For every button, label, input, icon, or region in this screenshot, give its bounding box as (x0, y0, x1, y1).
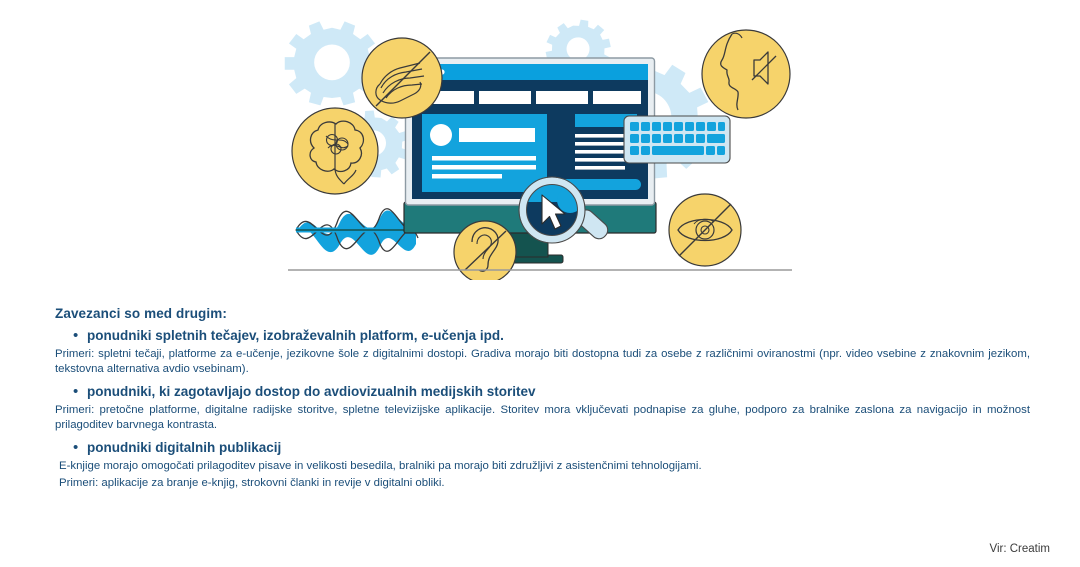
brain-cognitive-icon (292, 108, 378, 194)
list-item-label: ponudniki digitalnih publikacij (87, 439, 281, 457)
list-item-label: ponudniki spletnih tečajev, izobraževaln… (87, 327, 504, 345)
eye-visual-impairment-icon (669, 194, 741, 266)
sound-wave-graphic (296, 209, 420, 255)
bullet-row: • ponudniki, ki zagotavljajo dostop do a… (55, 383, 1030, 401)
bullet-row: • ponudniki digitalnih publikacij (55, 439, 1030, 457)
list-item-paragraph: Primeri: aplikacije za branje e-knjig, s… (55, 476, 1030, 491)
list-item-paragraph: E-knjige morajo omogočati prilagoditev p… (55, 459, 1030, 474)
list-item: • ponudniki spletnih tečajev, izobraževa… (55, 327, 1030, 376)
bullet-dot-icon: • (73, 383, 87, 401)
bullet-dot-icon: • (73, 327, 87, 345)
ear-hearing-impairment-icon (454, 221, 516, 280)
source-credit: Vir: Creatim (990, 543, 1051, 555)
slide-page: Zavezanci so med drugim: • ponudniki spl… (0, 0, 1080, 567)
page-title: Zavezanci so med drugim: (55, 306, 1030, 321)
list-item-paragraph: Primeri: spletni tečaji, platforme za e-… (55, 347, 1030, 376)
list-item: • ponudniki, ki zagotavljajo dostop do a… (55, 383, 1030, 432)
list-item-paragraph: Primeri: pretočne platforme, digitalne r… (55, 403, 1030, 432)
face-speech-mute-icon (702, 30, 790, 118)
bullet-row: • ponudniki spletnih tečajev, izobraževa… (55, 327, 1030, 345)
bullet-dot-icon: • (73, 439, 87, 457)
list-item: • ponudniki digitalnih publikacij E-knji… (55, 439, 1030, 490)
digital-accessibility-illustration (280, 18, 800, 280)
content-block: Zavezanci so med drugim: • ponudniki spl… (55, 306, 1030, 493)
list-item-label: ponudniki, ki zagotavljajo dostop do avd… (87, 383, 536, 401)
keyboard (624, 116, 730, 163)
hand-motor-disability-icon (362, 38, 442, 118)
